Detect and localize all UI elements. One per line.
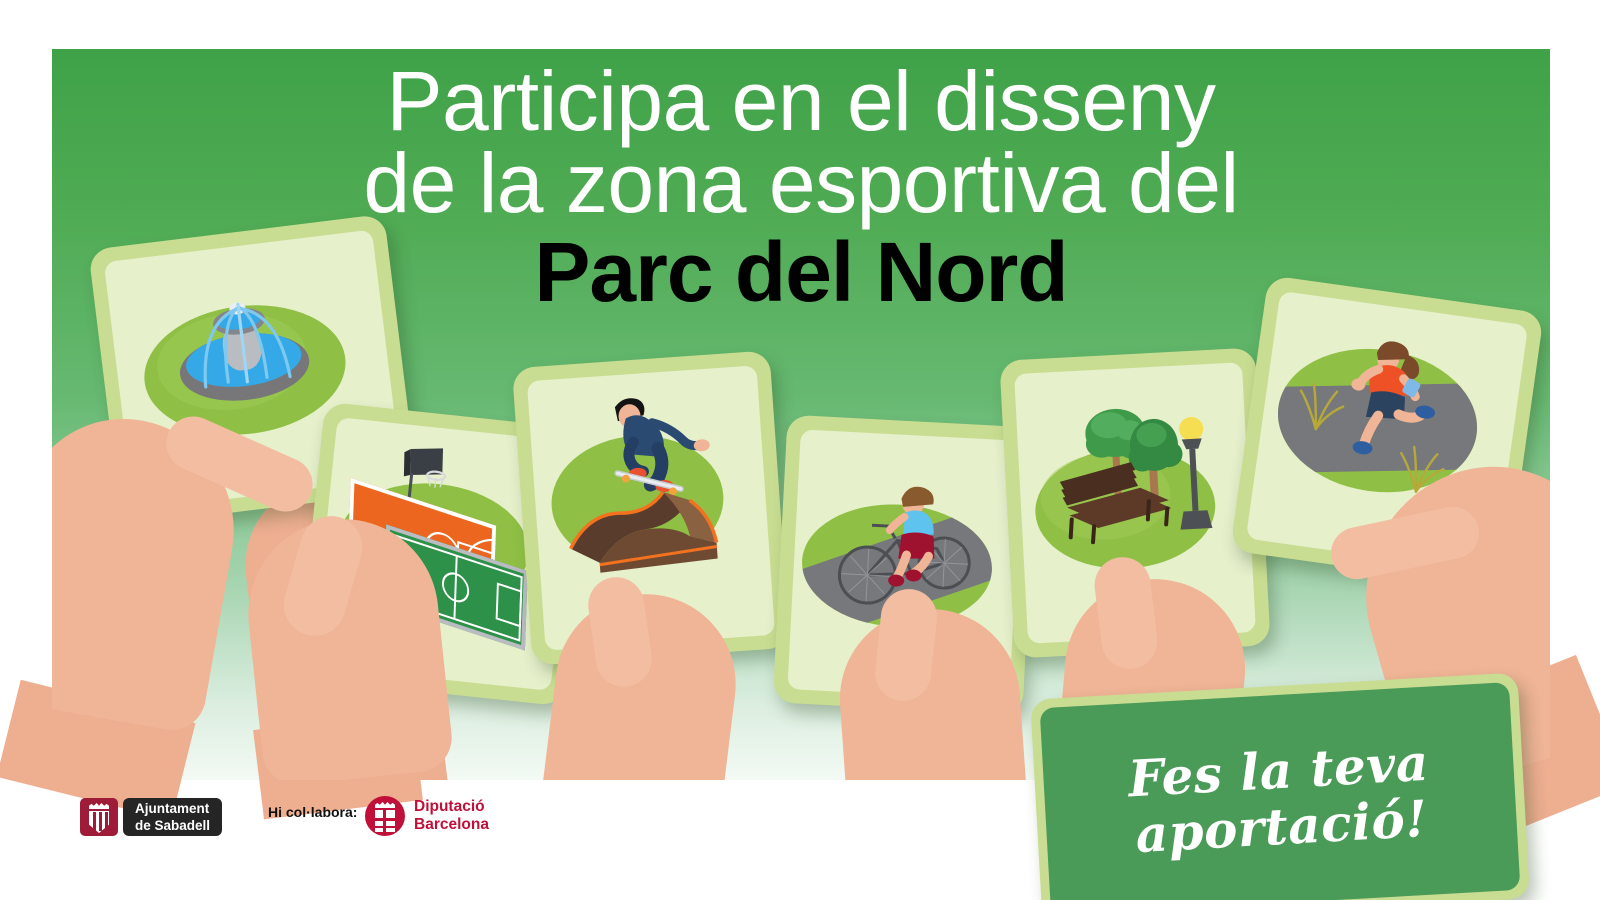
logo-ajuntament-sabadell[interactable]: Ajuntament de Sabadell xyxy=(80,798,222,836)
logo-diputacio-barcelona[interactable]: Diputació Barcelona xyxy=(365,796,489,836)
ajuntament-line-1: Ajuntament xyxy=(135,800,210,817)
diputacio-line-1: Diputació xyxy=(414,798,489,816)
sabadell-crest-icon xyxy=(80,798,118,836)
fountain-jets-icon xyxy=(151,268,334,406)
diputacio-wordmark: Diputació Barcelona xyxy=(414,798,489,834)
runner-icon xyxy=(1315,325,1473,483)
street-lamp-icon xyxy=(1168,412,1218,538)
green-background-panel xyxy=(52,49,1550,780)
crest-bar-3 xyxy=(105,812,108,830)
diputacio-line-2: Barcelona xyxy=(414,816,489,834)
barcelona-seal-icon xyxy=(365,796,405,836)
banner-canvas: Participa en el disseny de la zona espor… xyxy=(0,0,1600,900)
crest-bar-1 xyxy=(93,812,96,831)
seal-bar-horizontal xyxy=(375,818,395,821)
ajuntament-line-2: de Sabadell xyxy=(135,817,210,834)
crown-icon xyxy=(375,802,395,808)
park-bench-icon xyxy=(1042,449,1187,546)
collaborator-label: Hi col·labora: xyxy=(268,804,357,820)
skate-ramp-icon xyxy=(559,480,727,577)
footer-logos: Ajuntament de Sabadell Hi col·labora: Di… xyxy=(0,780,1600,900)
crest-bar-2 xyxy=(99,812,102,831)
crown-icon xyxy=(89,803,109,809)
ajuntament-wordmark: Ajuntament de Sabadell xyxy=(123,798,222,836)
seal-bar-lower xyxy=(375,826,395,828)
seal-bar-vertical xyxy=(383,810,386,832)
